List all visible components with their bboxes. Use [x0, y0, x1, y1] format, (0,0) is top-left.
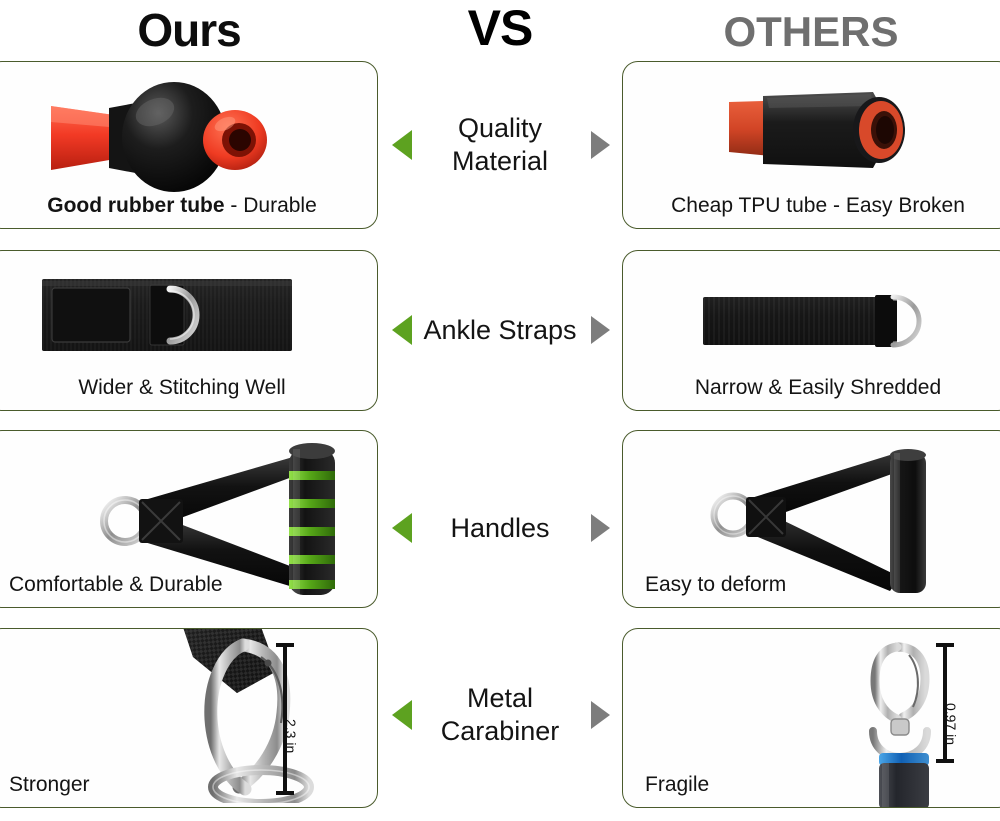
red-black-rubber-tube-photo	[49, 78, 279, 196]
ours-caption-metal-carabiner: Stronger	[0, 772, 377, 798]
ours-card-metal-carabiner: 2.3 in Stronger	[0, 628, 378, 808]
ours-caption-rest: Stronger	[9, 773, 90, 796]
ours-card-ankle-straps: Wider & Stitching Well	[0, 250, 378, 411]
ours-caption-strong: Good rubber tube	[47, 194, 224, 217]
narrow-ankle-strap-photo	[703, 291, 938, 353]
header-vs-title: VS	[420, 0, 580, 56]
others-caption-handles: Easy to deform	[623, 572, 1000, 598]
arrow-right-gray-icon	[591, 514, 610, 542]
ours-measurement-text: 2.3 in	[283, 719, 299, 753]
arrow-right-gray-icon	[591, 131, 610, 159]
ours-caption-handles: Comfortable & Durable	[0, 572, 377, 598]
cheap-tpu-tube-photo	[723, 80, 923, 180]
header-ours-title: Ours	[0, 2, 378, 58]
others-card-quality-material: Cheap TPU tube - Easy Broken	[622, 61, 1000, 229]
arrow-right-gray-icon	[591, 701, 610, 729]
header-others-title: OTHERS	[622, 4, 1000, 60]
feature-label-quality-material: Quality Material	[378, 96, 622, 194]
feature-label-metal-carabiner: Metal Carabiner	[378, 665, 622, 765]
ours-caption-rest: - Durable	[225, 194, 317, 217]
ours-caption-ankle-straps: Wider & Stitching Well	[0, 375, 377, 401]
feature-label-handles: Handles	[378, 496, 622, 560]
ours-caption-rest: Comfortable & Durable	[9, 573, 223, 596]
feature-text-ankle-straps: Ankle Straps	[423, 314, 576, 347]
measure-cap-top	[936, 643, 954, 647]
feature-text-quality-material: Quality Material	[452, 112, 548, 178]
header-row: Ours VS OTHERS	[0, 0, 1000, 62]
others-card-ankle-straps: Narrow & Easily Shredded	[622, 250, 1000, 411]
others-card-handles: Easy to deform	[622, 430, 1000, 608]
feature-text-metal-carabiner: Metal Carabiner	[441, 682, 560, 748]
measure-cap-bottom	[936, 759, 954, 763]
others-measurement-text: 0.97 in	[943, 703, 959, 745]
ours-caption-rest: Wider & Stitching Well	[78, 376, 285, 399]
arrow-right-gray-icon	[591, 316, 610, 344]
others-measurement-annotation: 0.97 in	[943, 643, 977, 763]
ours-card-quality-material: Good rubber tube - Durable	[0, 61, 378, 229]
others-caption-quality-material: Cheap TPU tube - Easy Broken	[623, 193, 1000, 219]
others-caption-ankle-straps: Narrow & Easily Shredded	[623, 375, 1000, 401]
ours-card-handles: Comfortable & Durable	[0, 430, 378, 608]
others-caption-metal-carabiner: Fragile	[623, 772, 1000, 798]
measure-cap-top	[276, 643, 294, 647]
wide-ankle-strap-photo	[42, 279, 292, 351]
feature-text-handles: Handles	[450, 512, 549, 545]
feature-label-ankle-straps: Ankle Straps	[378, 300, 622, 360]
ours-caption-quality-material: Good rubber tube - Durable	[0, 193, 377, 219]
others-card-metal-carabiner: 0.97 in Fragile	[622, 628, 1000, 808]
comparison-infographic: Ours VS OTHERS	[0, 0, 1000, 821]
